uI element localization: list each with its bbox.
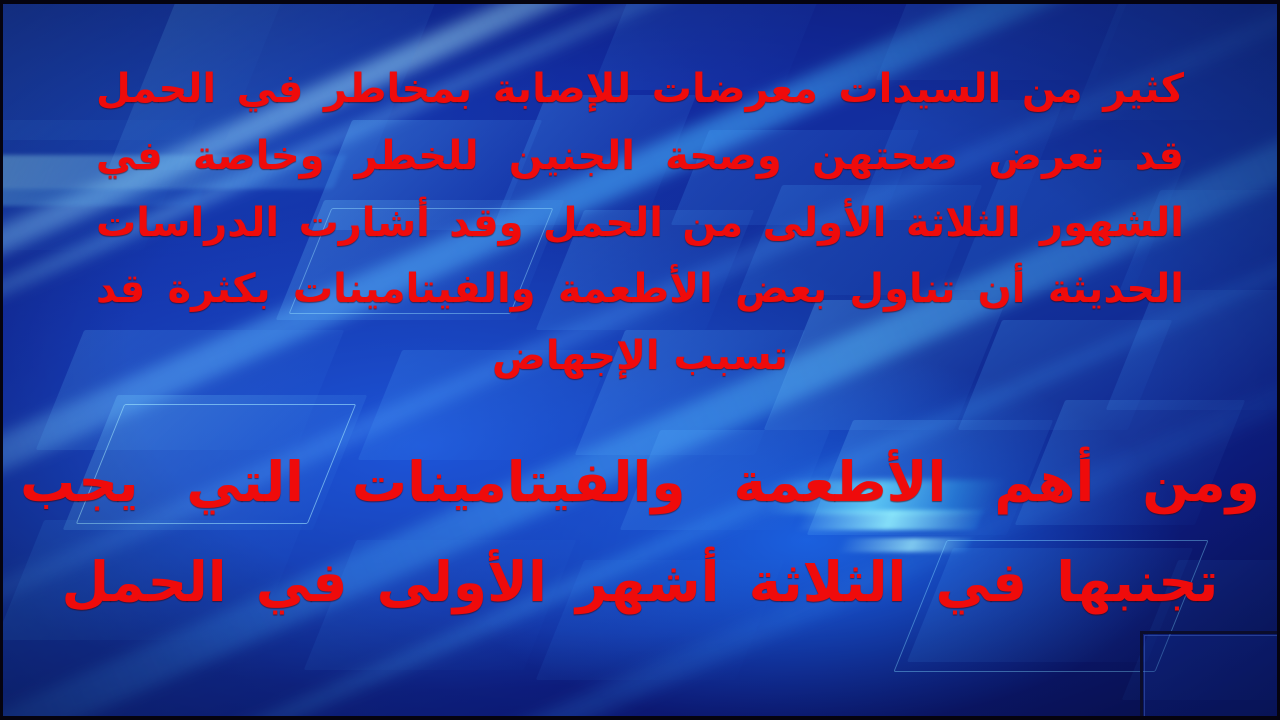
empty-placeholder-box[interactable] bbox=[1140, 631, 1280, 720]
intro-paragraph: كثير من السيدات معرضات للإصابة بمخاطر في… bbox=[96, 56, 1184, 390]
text-layer: كثير من السيدات معرضات للإصابة بمخاطر في… bbox=[0, 0, 1280, 720]
canvas-frame-top bbox=[0, 0, 1280, 4]
slide-canvas: كثير من السيدات معرضات للإصابة بمخاطر في… bbox=[0, 0, 1280, 720]
canvas-frame-bottom bbox=[0, 716, 1280, 720]
canvas-frame-left bbox=[0, 0, 3, 720]
headline-paragraph: ومن أهم الأطعمة والفيتامينات التي يجب تج… bbox=[20, 432, 1260, 632]
